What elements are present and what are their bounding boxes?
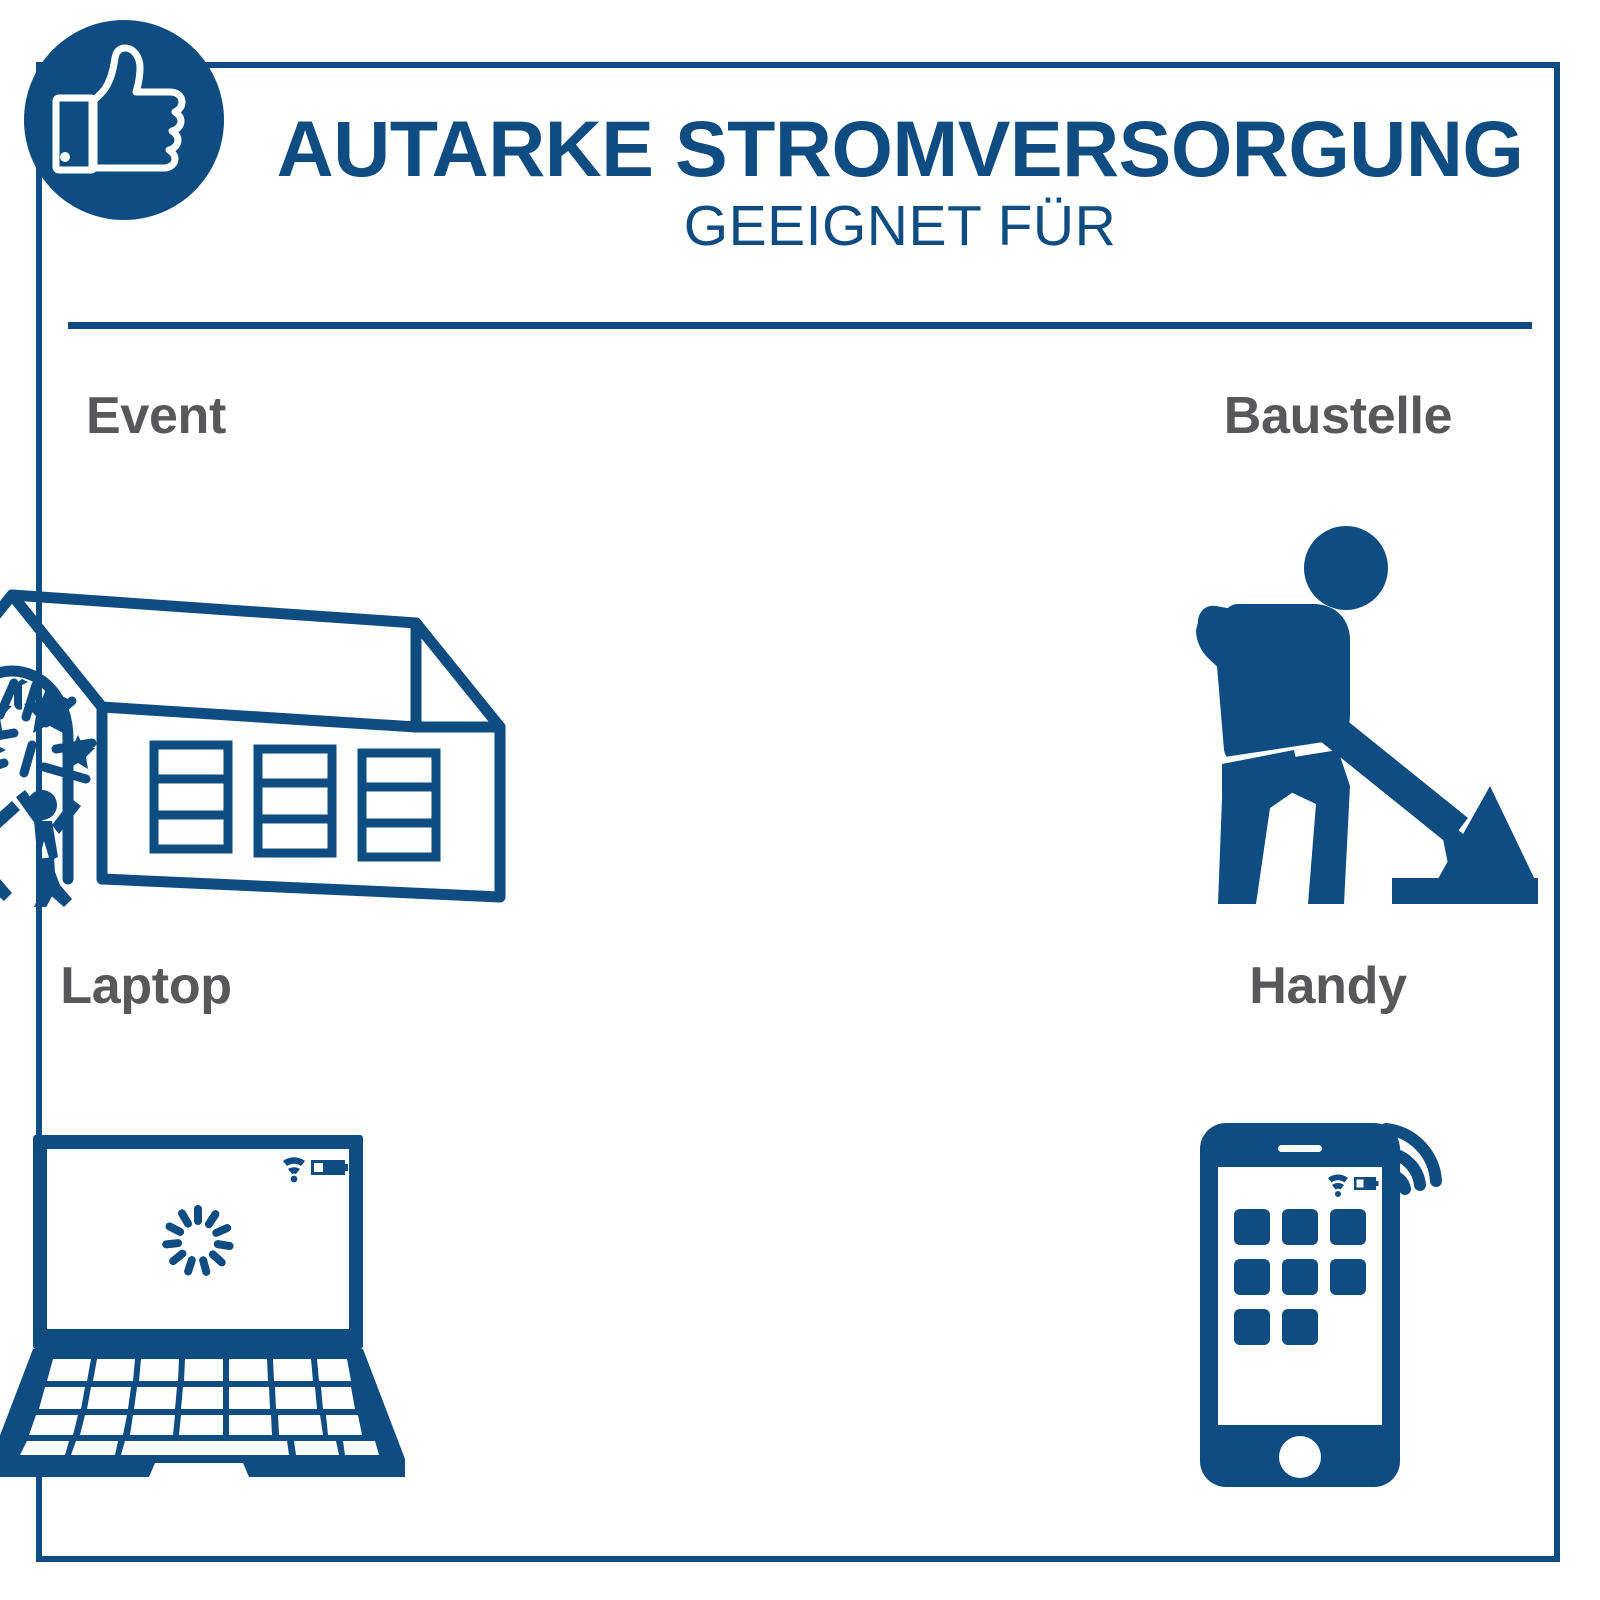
battery-icon xyxy=(311,1160,348,1175)
item-event: Event xyxy=(60,390,718,960)
page-subtitle: GEEIGNET FÜR xyxy=(250,193,1550,260)
infographic-root: AUTARKE STROMVERSORGUNG GEEIGNET FÜR Eve… xyxy=(0,0,1600,1600)
item-label-laptop: Laptop xyxy=(60,960,232,1012)
item-label-event: Event xyxy=(86,390,226,442)
items-grid: Event xyxy=(60,390,1538,1530)
thumbs-up-icon xyxy=(18,14,230,226)
header: AUTARKE STROMVERSORGUNG GEEIGNET FÜR xyxy=(250,110,1550,261)
item-handy: Handy xyxy=(718,960,1538,1530)
party-tent-icon xyxy=(0,456,526,960)
item-baustelle: Baustelle xyxy=(718,390,1538,960)
header-divider xyxy=(68,322,1532,329)
item-label-handy: Handy xyxy=(1249,960,1406,1012)
laptop-icon xyxy=(0,1026,407,1530)
battery-icon xyxy=(1354,1177,1379,1190)
item-laptop: Laptop xyxy=(60,960,718,1530)
construction-worker-icon xyxy=(1138,456,1538,960)
smartphone-icon xyxy=(1178,1026,1478,1530)
page-title: AUTARKE STROMVERSORGUNG xyxy=(250,110,1550,187)
item-label-baustelle: Baustelle xyxy=(1224,390,1453,442)
